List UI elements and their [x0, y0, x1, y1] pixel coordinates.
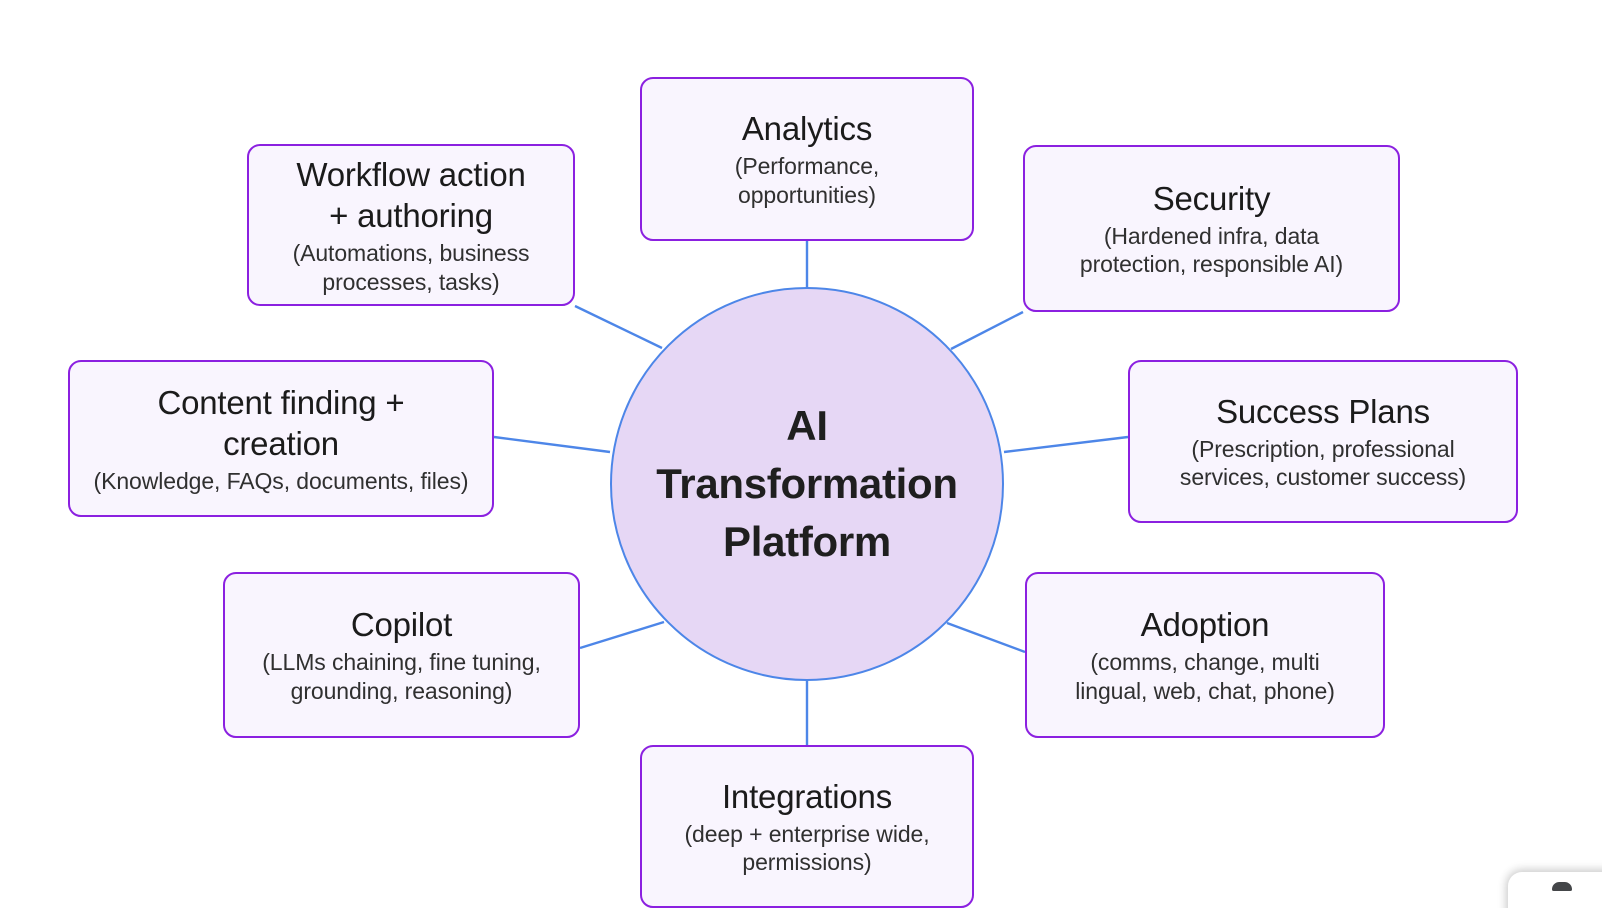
node-title: Copilot	[351, 604, 452, 646]
node-subtitle: (Prescription, professional services, cu…	[1180, 435, 1466, 493]
node-analytics[interactable]: Analytics(Performance, opportunities)	[640, 77, 974, 241]
node-workflow-action-authoring[interactable]: Workflow action + authoring(Automations,…	[247, 144, 575, 306]
node-title: Workflow action + authoring	[296, 154, 525, 237]
connector-hub-to-workflow	[575, 306, 662, 348]
node-subtitle: (deep + enterprise wide, permissions)	[685, 820, 930, 878]
node-subtitle: (Hardened infra, data protection, respon…	[1080, 222, 1343, 280]
node-security[interactable]: Security(Hardened infra, data protection…	[1023, 145, 1400, 312]
connector-hub-to-adoption	[947, 623, 1025, 652]
connector-hub-to-content	[494, 437, 610, 452]
node-content-finding-creation[interactable]: Content finding + creation(Knowledge, FA…	[68, 360, 494, 517]
node-subtitle: (Performance, opportunities)	[735, 152, 879, 210]
node-title: Analytics	[742, 108, 872, 150]
node-title: Success Plans	[1216, 391, 1430, 433]
node-title: Adoption	[1141, 604, 1270, 646]
floating-corner-widget[interactable]	[1508, 872, 1602, 908]
node-title: Integrations	[722, 776, 892, 818]
node-subtitle: (Knowledge, FAQs, documents, files)	[94, 467, 469, 496]
node-subtitle: (Automations, business processes, tasks)	[293, 239, 530, 297]
node-copilot[interactable]: Copilot(LLMs chaining, fine tuning, grou…	[223, 572, 580, 738]
diagram-canvas: AI Transformation Platform Analytics(Per…	[0, 0, 1602, 908]
hub-node-label: AI Transformation Platform	[612, 397, 1002, 571]
connector-hub-to-success	[1004, 437, 1128, 452]
connector-hub-to-copilot	[580, 622, 664, 648]
node-title: Content finding + creation	[157, 382, 404, 465]
node-subtitle: (comms, change, multi lingual, web, chat…	[1075, 648, 1335, 706]
person-avatar-icon	[1552, 882, 1572, 891]
node-subtitle: (LLMs chaining, fine tuning, grounding, …	[262, 648, 540, 706]
hub-node-ai-transformation-platform[interactable]: AI Transformation Platform	[610, 287, 1004, 681]
node-title: Security	[1153, 178, 1271, 220]
connector-hub-to-security	[951, 312, 1023, 349]
node-adoption[interactable]: Adoption(comms, change, multi lingual, w…	[1025, 572, 1385, 738]
node-success-plans[interactable]: Success Plans(Prescription, professional…	[1128, 360, 1518, 523]
node-integrations[interactable]: Integrations(deep + enterprise wide, per…	[640, 745, 974, 908]
